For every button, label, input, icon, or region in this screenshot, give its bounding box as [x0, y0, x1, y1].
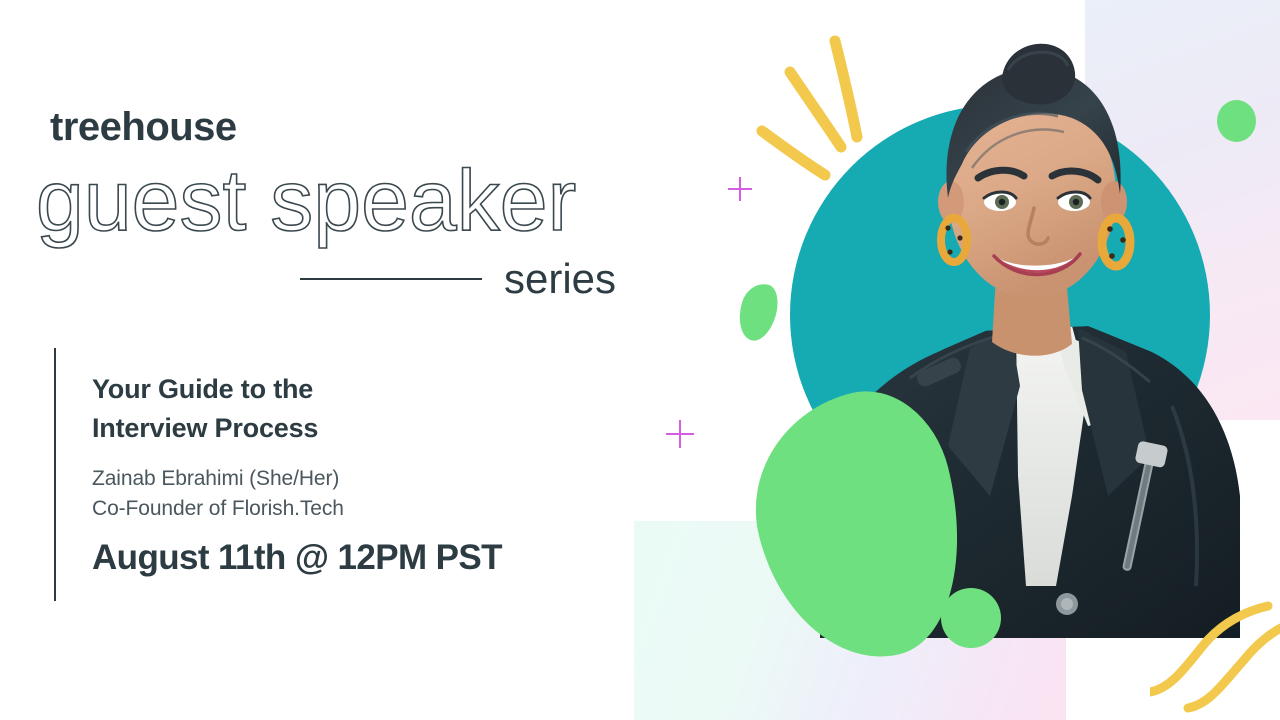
session-datetime: August 11th @ 12PM PST — [92, 538, 612, 578]
headline-outline-text: guest speaker — [36, 158, 576, 244]
series-row: series — [300, 255, 630, 303]
talk-title-line-1: Your Guide to the — [92, 370, 612, 409]
speaker-name: Zainab Ebrahimi (She/Her) — [92, 464, 612, 494]
speaker-role: Co-Founder of Florish.Tech — [92, 494, 612, 524]
magenta-plus-upper-icon — [728, 177, 752, 201]
yellow-spark-dashes-icon — [745, 25, 895, 190]
content-column: treehouse guest speaker series Your Guid… — [0, 0, 660, 720]
series-label: series — [504, 258, 616, 300]
yellow-squiggle-strokes-icon — [1150, 580, 1280, 720]
treehouse-wordmark: treehouse — [50, 107, 237, 147]
green-blob-small-icon — [733, 279, 784, 345]
series-divider-rule — [300, 278, 482, 280]
session-details: Your Guide to the Interview Process Zain… — [92, 370, 612, 578]
talk-title-line-2: Interview Process — [92, 409, 612, 448]
vertical-accent-rule — [54, 348, 56, 601]
promo-slide: treehouse guest speaker series Your Guid… — [0, 0, 1280, 720]
magenta-plus-lower-icon — [666, 420, 694, 448]
green-dot-lower-icon — [941, 588, 1001, 648]
